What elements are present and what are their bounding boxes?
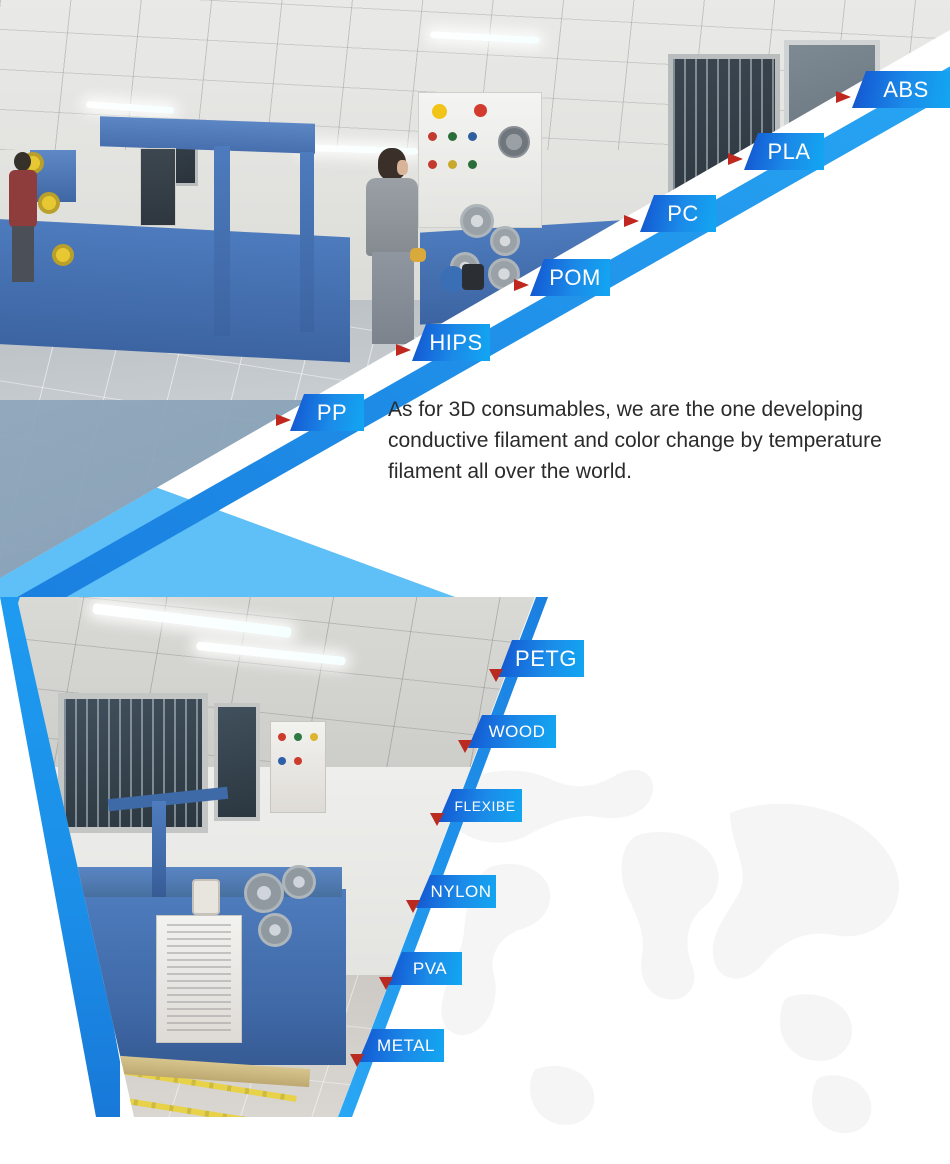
spool-dark (462, 264, 484, 290)
machine-door-panel (156, 915, 242, 1043)
bottom-banner-section: PETG WOOD FLEXIBE NYLON PVA METAL As for… (0, 597, 950, 1164)
tag-pc-arrow (624, 215, 639, 227)
top-paragraph: As for 3D consumables, we are the one de… (388, 395, 940, 488)
control-cabinet-small (140, 148, 176, 226)
tag-pom[interactable]: POM (530, 259, 610, 296)
worker-shirt (366, 178, 418, 256)
tag-pla[interactable]: PLA (744, 133, 824, 170)
panel-button-blue (278, 757, 286, 765)
machine-column-2 (300, 152, 314, 332)
second-worker-legs (12, 226, 34, 282)
cabinet-fan (498, 126, 530, 158)
second-worker (6, 152, 40, 282)
machineroom-window-far (214, 703, 260, 821)
tag-petg[interactable]: PETG (498, 640, 584, 677)
tag-pva-arrow (379, 977, 393, 990)
panel-button-red-2 (294, 757, 302, 765)
tag-pp-arrow (276, 414, 291, 426)
tag-pom-arrow (514, 279, 529, 291)
second-worker-head (14, 152, 31, 171)
tag-metal-arrow (350, 1054, 364, 1067)
panel-button-green (294, 733, 302, 741)
worker-glove (410, 248, 426, 262)
bottom-factory-photo (0, 597, 950, 1117)
switch-row-4 (428, 160, 437, 169)
tag-pla-arrow (728, 153, 743, 165)
switch-row-1 (428, 132, 437, 141)
world-map-watermark (390, 717, 950, 1147)
tag-hips-arrow (396, 344, 411, 356)
panel-button-red (278, 733, 286, 741)
tag-flexibe[interactable]: FLEXIBE (438, 789, 522, 822)
tag-pva[interactable]: PVA (388, 952, 462, 985)
reel-yellow-2 (38, 192, 60, 214)
switch-row-5 (448, 160, 457, 169)
guide-post (152, 801, 166, 897)
operator-worker (358, 148, 428, 348)
tag-petg-arrow (489, 669, 503, 682)
pulley-2 (490, 226, 520, 256)
winding-wheel-1 (244, 873, 284, 913)
second-worker-body (9, 170, 37, 228)
extrusion-line-base (0, 219, 350, 363)
tag-abs-arrow (836, 91, 851, 103)
tag-abs[interactable]: ABS (852, 71, 950, 108)
worker-trousers (372, 252, 414, 344)
tag-metal[interactable]: METAL (358, 1029, 444, 1062)
winding-wheel-3 (258, 913, 292, 947)
indicator-lamp-red (474, 104, 487, 117)
machine-vent-slots (167, 924, 231, 1034)
tag-wood-arrow (458, 740, 472, 753)
machine-column-1 (214, 146, 230, 336)
panel-button-yellow (310, 733, 318, 741)
switch-row-2 (448, 132, 457, 141)
winding-wheel-2 (282, 865, 316, 899)
switch-row-6 (468, 160, 477, 169)
tag-wood[interactable]: WOOD (468, 715, 556, 748)
machineroom-window (58, 693, 208, 833)
tag-flexibe-arrow (430, 813, 444, 826)
take-up-reel (192, 879, 220, 915)
worker-face (397, 160, 408, 175)
pulley-1 (460, 204, 494, 238)
tag-nylon-arrow (406, 900, 420, 913)
bottom-photo-scene (0, 597, 950, 1117)
top-banner-section: PP HIPS POM PC PLA ABS As for 3D consuma… (0, 0, 950, 597)
emergency-stop-knob (432, 104, 447, 119)
tag-nylon[interactable]: NYLON (416, 875, 496, 908)
reel-yellow-3 (52, 244, 74, 266)
switch-row-3 (468, 132, 477, 141)
